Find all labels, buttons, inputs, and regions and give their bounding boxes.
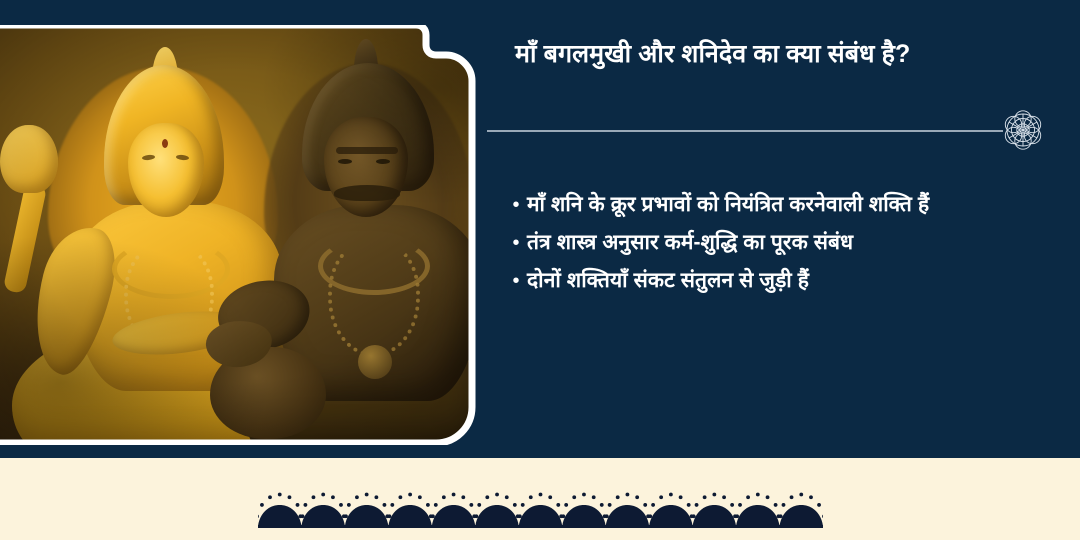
- page-title: माँ बगलमुखी और शनिदेव का क्या संबंध है?: [515, 38, 1060, 71]
- deity-image-card: [0, 25, 486, 445]
- scalloped-arch-border: [258, 482, 823, 530]
- list-item: • तंत्र शास्त्र अनुसार कर्म-शुद्धि का पू…: [505, 226, 1065, 260]
- list-item: • माँ शनि के क्रूर प्रभावों को नियंत्रित…: [505, 188, 1065, 222]
- bullet-text: तंत्र शास्त्र अनुसार कर्म-शुद्धि का पूरक…: [527, 226, 1065, 260]
- bullet-text: दोनों शक्तियाँ संकट संतुलन से जुड़ी हैं: [527, 264, 1065, 298]
- list-item: • दोनों शक्तियाँ संकट संतुलन से जुड़ी है…: [505, 264, 1065, 298]
- mandala-rosette-icon: [996, 103, 1050, 157]
- bullet-marker-icon: •: [505, 188, 527, 222]
- deity-photo: [0, 25, 486, 445]
- content-column: माँ बगलमुखी और शनिदेव का क्या संबंध है?: [487, 0, 1080, 458]
- slide-canvas: माँ बगलमुखी और शनिदेव का क्या संबंध है?: [0, 0, 1080, 540]
- bullet-marker-icon: •: [505, 264, 527, 298]
- bullet-marker-icon: •: [505, 226, 527, 260]
- bullet-text: माँ शनि के क्रूर प्रभावों को नियंत्रित क…: [527, 188, 1065, 222]
- bullet-list: • माँ शनि के क्रूर प्रभावों को नियंत्रित…: [505, 188, 1065, 302]
- title-divider: [487, 130, 1003, 132]
